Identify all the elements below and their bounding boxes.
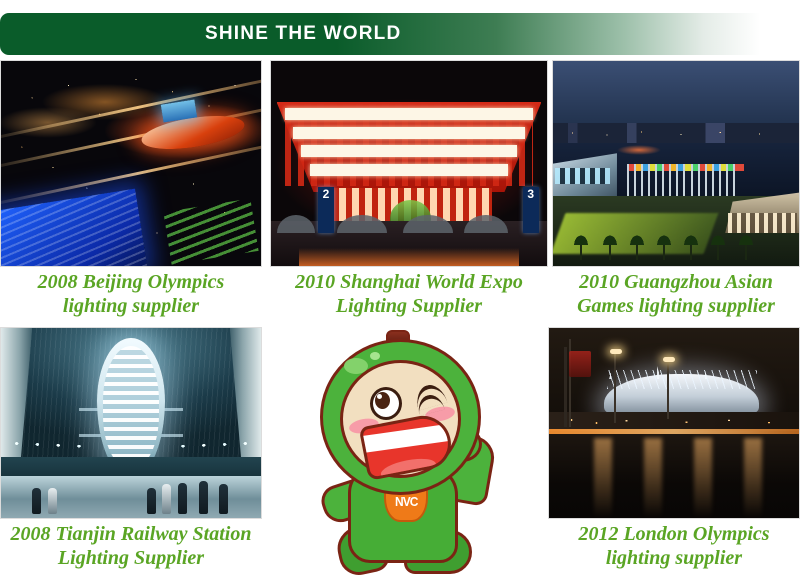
light-reflection — [644, 438, 662, 518]
light-mast — [667, 358, 669, 419]
caption-line-1: 2008 Tianjin Railway Station — [11, 523, 252, 545]
project-caption-guangzhou-asian-games: 2010 Guangzhou Asian Games lighting supp… — [552, 270, 800, 318]
promo-banner-page: SHINE THE WORLD 2008 Beijing Olympics li… — [0, 0, 800, 574]
caption-line-2: lighting supplier — [0, 294, 262, 318]
lit-beam — [310, 164, 509, 176]
building-windows — [555, 168, 609, 184]
light-reflection — [744, 438, 762, 518]
ground-light-glow — [299, 248, 520, 266]
nvc-logo-text: NVC — [395, 494, 417, 509]
caption-line-2: lighting supplier — [548, 546, 800, 570]
caption-line-2: Lighting Supplier — [0, 546, 262, 570]
mast-lamp — [610, 349, 622, 354]
caption-line-2: Games lighting supplier — [552, 294, 800, 318]
project-caption-shanghai-world-expo: 2010 Shanghai World Expo Lighting Suppli… — [270, 270, 548, 318]
lit-beam — [285, 108, 533, 120]
colonnade-columns — [728, 213, 797, 234]
project-image-guangzhou-asian-games[interactable] — [552, 60, 800, 267]
wet-foreground — [549, 434, 799, 518]
light-reflection — [694, 438, 712, 518]
header-banner: SHINE THE WORLD — [0, 13, 800, 55]
project-caption-london-olympics: 2012 London Olympics lighting supplier — [548, 522, 800, 570]
project-image-beijing-olympics[interactable] — [0, 60, 262, 267]
water-reflection-glow — [617, 145, 661, 155]
light-mast — [614, 351, 616, 423]
project-card-beijing-olympics[interactable]: 2008 Beijing Olympics lighting supplier — [0, 60, 262, 318]
project-row-top: 2008 Beijing Olympics lighting supplier — [0, 60, 800, 325]
project-card-london-olympics[interactable]: 2012 London Olympics lighting supplier — [548, 327, 800, 570]
light-reflection — [594, 438, 612, 518]
project-card-tianjin-railway-station[interactable]: 2008 Tianjin Railway Station Lighting Su… — [0, 327, 262, 570]
lit-beam — [301, 145, 516, 157]
project-card-shanghai-world-expo[interactable]: 2 3 2010 Shanghai World Expo Lighting Su… — [270, 60, 548, 318]
ceiling-lamps — [1, 434, 261, 453]
flag-pole — [564, 347, 567, 427]
mascot-hood-highlight — [370, 352, 380, 360]
mascot-face — [340, 360, 461, 478]
mast-lamp — [663, 357, 675, 362]
caption-line-1: 2012 London Olympics — [578, 523, 769, 545]
project-image-tianjin-railway-station[interactable] — [0, 327, 262, 519]
project-card-guangzhou-asian-games[interactable]: 2010 Guangzhou Asian Games lighting supp… — [552, 60, 800, 318]
project-image-shanghai-world-expo[interactable]: 2 3 — [270, 60, 548, 267]
caption-line-1: 2010 Shanghai World Expo — [295, 271, 523, 293]
caption-line-2: Lighting Supplier — [270, 294, 548, 318]
caption-line-1: 2010 Guangzhou Asian — [579, 271, 773, 293]
gate-sign-3: 3 — [523, 187, 539, 233]
red-flag — [569, 351, 591, 377]
project-caption-tianjin-railway-station: 2008 Tianjin Railway Station Lighting Su… — [0, 522, 262, 570]
project-caption-beijing-olympics: 2008 Beijing Olympics lighting supplier — [0, 270, 262, 318]
nvc-mascot: NVC — [300, 330, 496, 574]
gate-sign-2: 2 — [318, 187, 334, 233]
mascot-teeth — [360, 423, 456, 453]
crowd-lights — [549, 414, 799, 429]
distant-city-lights — [553, 129, 799, 139]
project-image-london-olympics[interactable] — [548, 327, 800, 519]
caption-line-1: 2008 Beijing Olympics — [38, 271, 225, 293]
lit-beam — [293, 127, 525, 139]
mascot-pupil — [375, 392, 390, 409]
banner-title: SHINE THE WORLD — [205, 23, 401, 45]
